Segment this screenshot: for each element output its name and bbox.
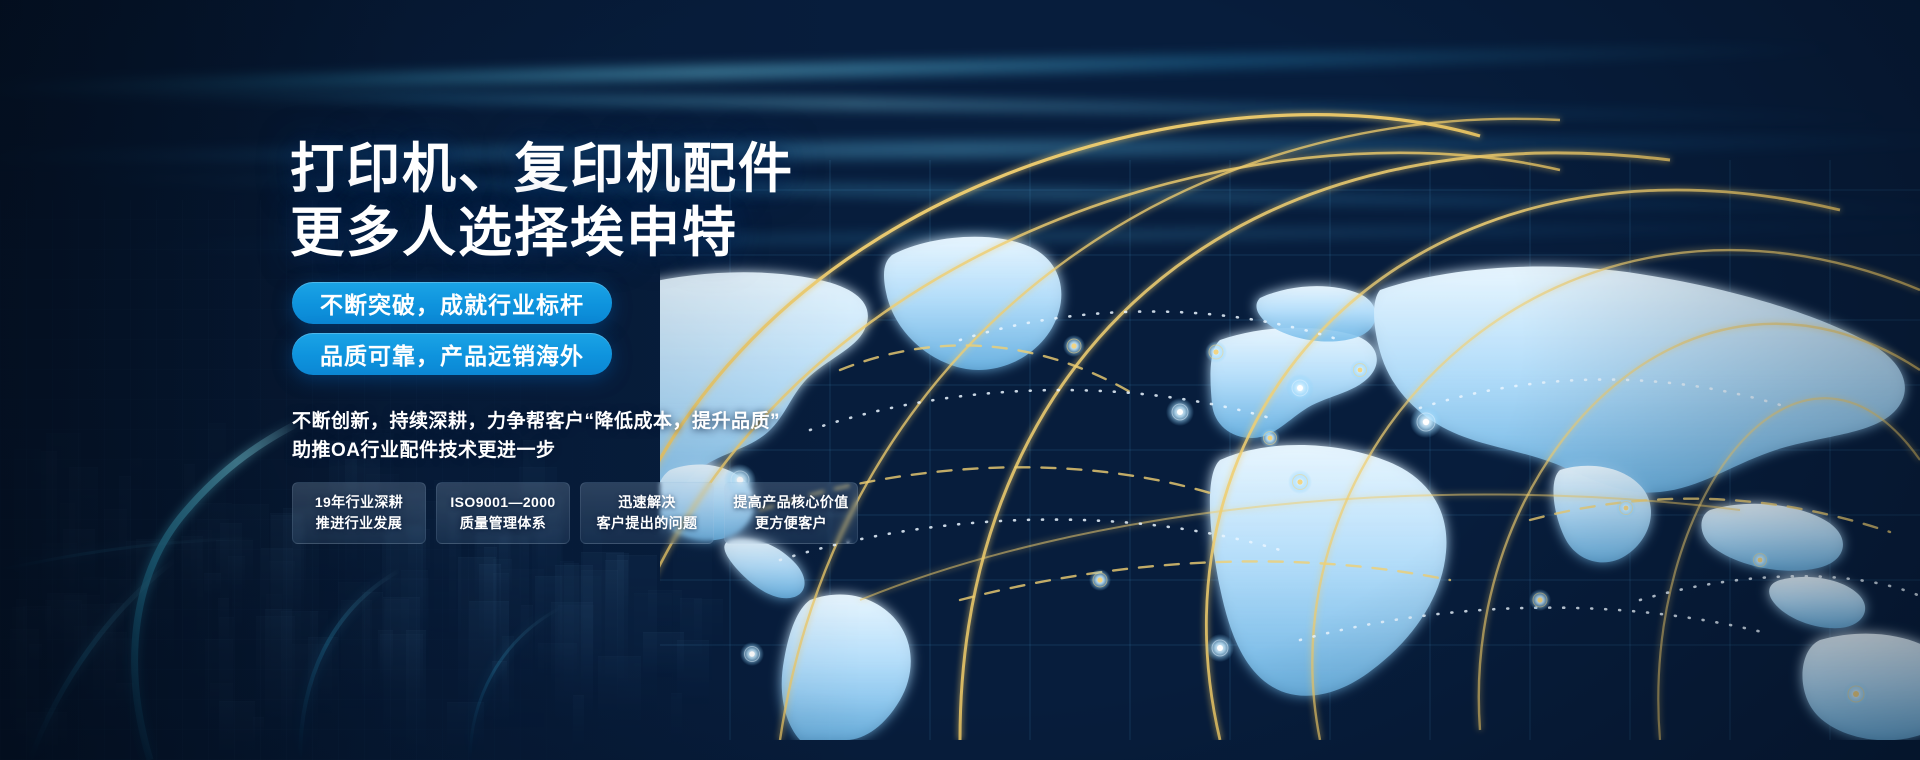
feature-box[interactable]: 提高产品核心价值 更方便客户 bbox=[724, 482, 858, 544]
page-title: 打印机、复印机配件 更多人选择埃申特 bbox=[290, 138, 1010, 265]
highlight-pill-1[interactable]: 不断突破，成就行业标杆 bbox=[292, 282, 612, 324]
feature-box[interactable]: 迅速解决 客户提出的问题 bbox=[580, 482, 714, 544]
feature-line-1: 迅速解决 bbox=[618, 492, 676, 513]
description-line-2: 助推OA行业配件技术更进一步 bbox=[292, 436, 1012, 465]
description-text: 不断创新，持续深耕，力争帮客户“降低成本，提升品质” 助推OA行业配件技术更进一… bbox=[292, 407, 1012, 466]
feature-line-2: 客户提出的问题 bbox=[597, 513, 698, 534]
highlight-pill-2[interactable]: 品质可靠，产品远销海外 bbox=[292, 333, 612, 375]
hero-banner: 打印机、复印机配件 更多人选择埃申特 不断突破，成就行业标杆 品质可靠，产品远销… bbox=[0, 0, 1920, 760]
headline-line-1: 打印机、复印机配件 bbox=[290, 139, 794, 199]
banner-content: 打印机、复印机配件 更多人选择埃申特 不断突破，成就行业标杆 品质可靠，产品远销… bbox=[290, 0, 1070, 760]
headline-line-2: 更多人选择埃申特 bbox=[290, 202, 1010, 266]
feature-line-1: 19年行业深耕 bbox=[315, 492, 403, 513]
description-line-1: 不断创新，持续深耕，力争帮客户“降低成本，提升品质” bbox=[292, 407, 1012, 436]
feature-line-2: 质量管理体系 bbox=[460, 513, 546, 534]
feature-line-1: 提高产品核心价值 bbox=[733, 492, 848, 513]
feature-box-list: 19年行业深耕 推进行业发展 ISO9001—2000 质量管理体系 迅速解决 … bbox=[292, 482, 858, 544]
feature-line-1: ISO9001—2000 bbox=[450, 492, 555, 513]
feature-line-2: 推进行业发展 bbox=[316, 513, 402, 534]
feature-box[interactable]: ISO9001—2000 质量管理体系 bbox=[436, 482, 570, 544]
feature-box[interactable]: 19年行业深耕 推进行业发展 bbox=[292, 482, 426, 544]
feature-line-2: 更方便客户 bbox=[755, 513, 827, 534]
